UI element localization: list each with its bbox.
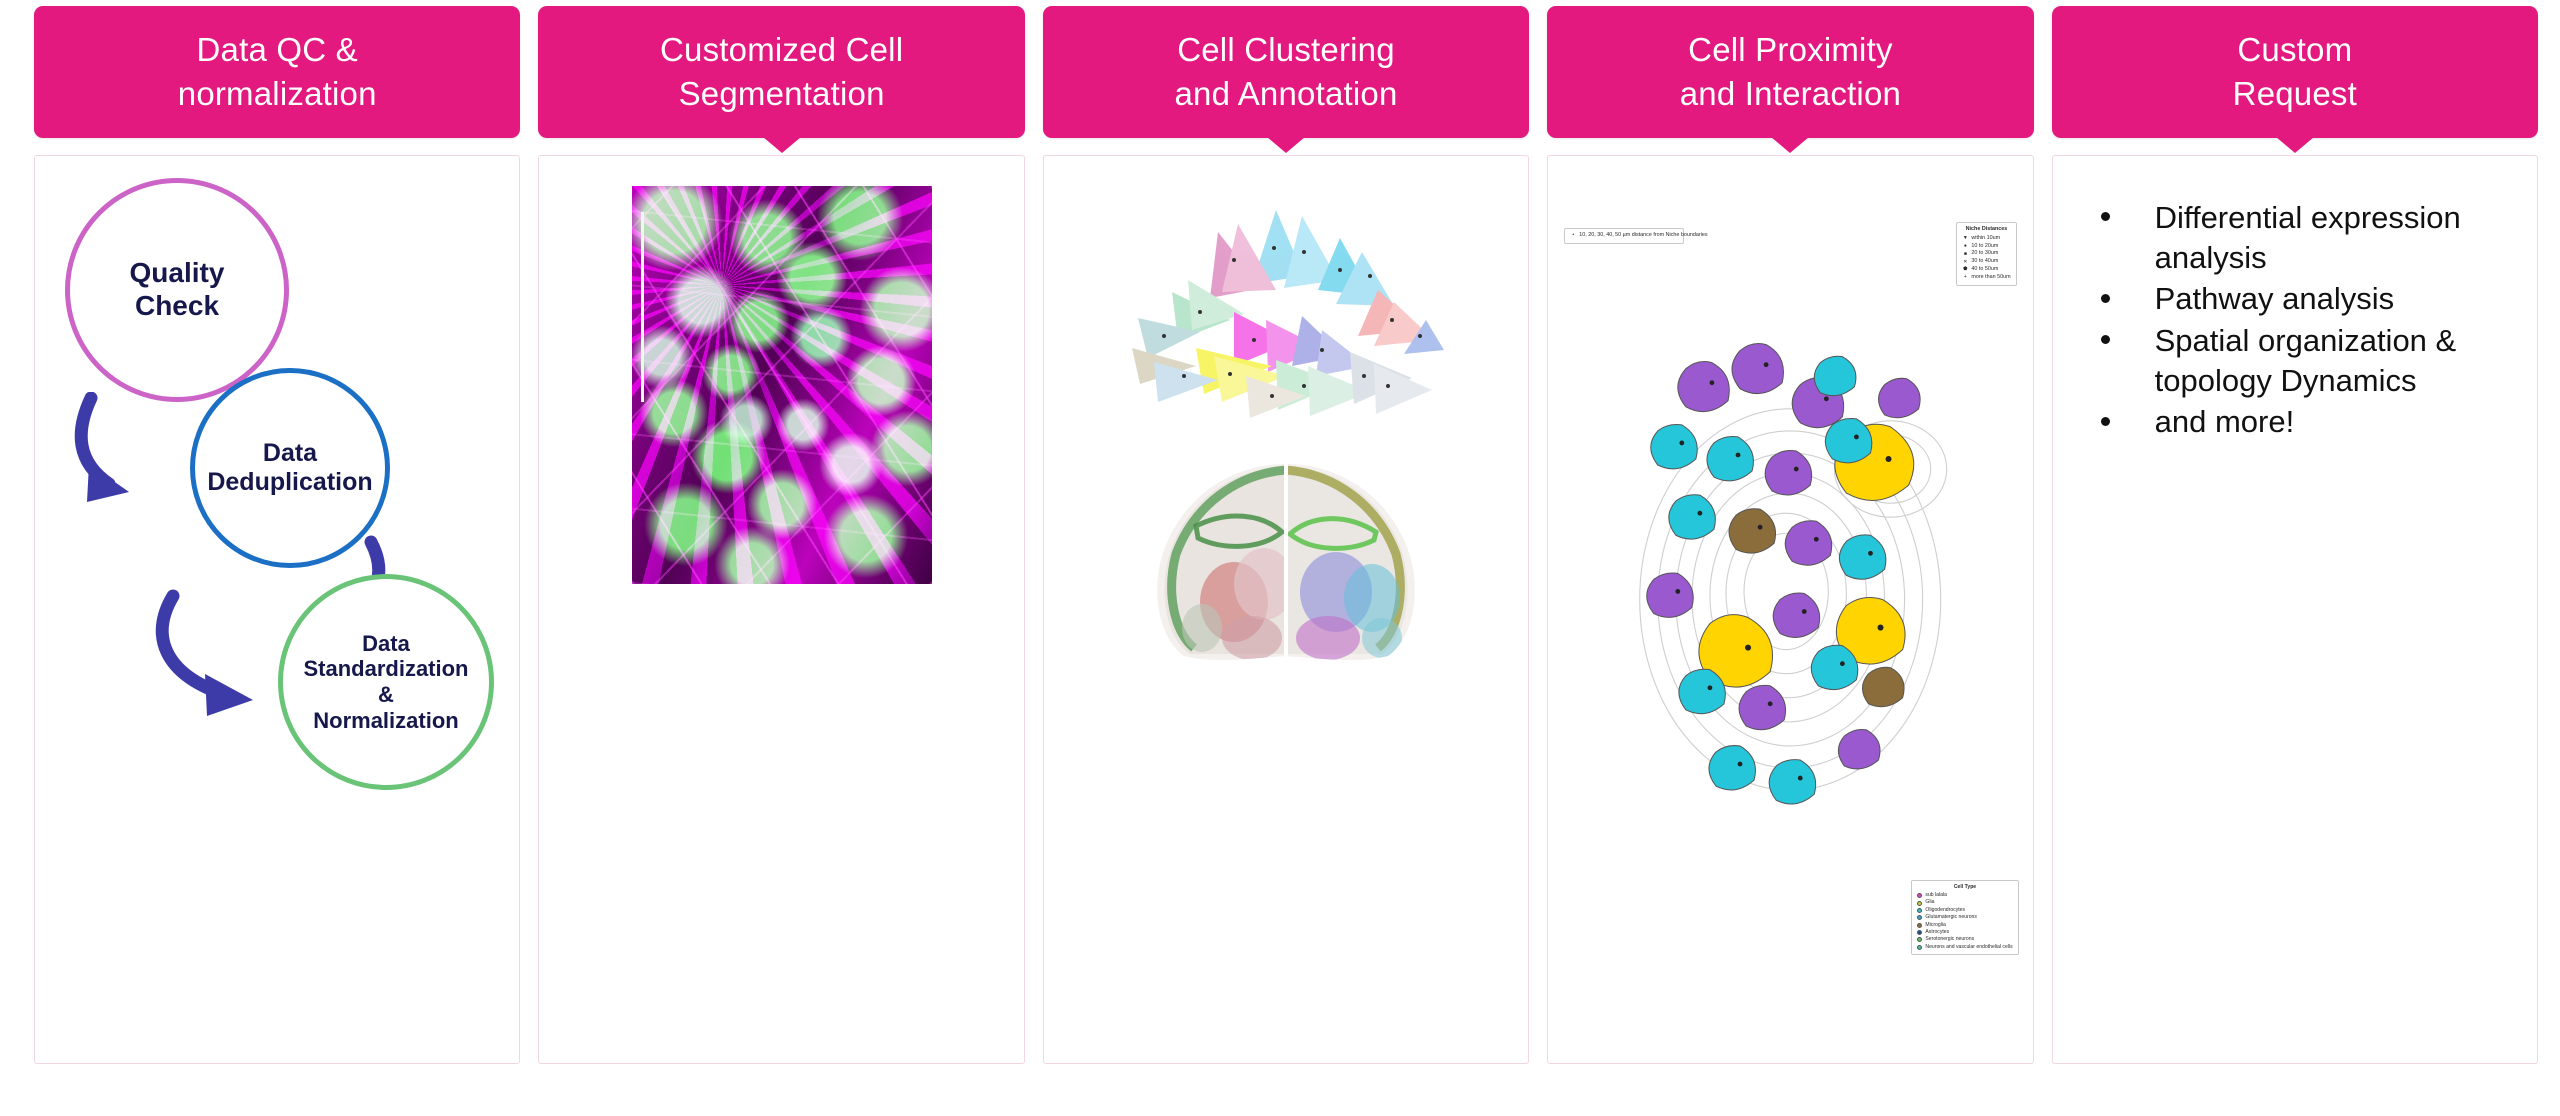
column-data-qc-normalization: Data QC & normalization Quality Check: [34, 6, 520, 1064]
niche-legend-item: +more than 50um: [1962, 274, 2010, 282]
cell-type-label: Glia: [1925, 899, 1934, 906]
cell-type-swatch-icon: [1917, 923, 1922, 928]
column-header-custom-request[interactable]: Custom Request: [2052, 6, 2538, 138]
header-line-1: Data QC &: [178, 28, 377, 72]
flow-node-data-deduplication-label: Data Deduplication: [201, 439, 378, 498]
column-cell-clustering-and-annotation: Cell Clustering and Annotation: [1043, 6, 1529, 1064]
arrow-qc-to-dedup-icon: [53, 392, 183, 512]
niche-legend-label: more than 50um: [1971, 274, 2010, 282]
cell-type-label: sub lalala: [1925, 892, 1947, 899]
column-body-cell-proximity-and-interaction: • 10, 20, 30, 40, 50 µm distance from Ni…: [1547, 155, 2033, 1064]
header-line-2: Request: [2233, 72, 2357, 116]
header-line-1: Cell Proximity: [1680, 28, 1901, 72]
cell-type-label: Glutamatergic neurons: [1925, 914, 1977, 921]
proximity-distance-note-text: 10, 20, 30, 40, 50 µm distance from Nich…: [1579, 232, 1707, 240]
column-header-cell-proximity-and-interaction[interactable]: Cell Proximity and Interaction: [1547, 6, 2033, 138]
proximity-distance-note: • 10, 20, 30, 40, 50 µm distance from Ni…: [1564, 228, 1684, 244]
niche-marker-icon: ▼: [1962, 235, 1968, 242]
header-line-1: Custom: [2233, 28, 2357, 72]
cell-type-label: Serotonergic neurons: [1925, 936, 1974, 943]
cell-type-legend-item: Astrocytes: [1917, 929, 2012, 936]
bullet-dot-icon: [2101, 212, 2110, 221]
custom-request-bullet-list: Differential expression analysis Pathway…: [2093, 198, 2515, 444]
flow-node-data-standardization-normalization[interactable]: Data Standardization & Normalization: [278, 574, 494, 790]
column-header-customized-cell-segmentation[interactable]: Customized Cell Segmentation: [538, 6, 1024, 138]
niche-legend-item: ■20 to 30um: [1962, 250, 2010, 258]
cell-type-legend-item: Microglia: [1917, 922, 2012, 929]
niche-legend-label: 40 to 50um: [1971, 266, 1998, 274]
niche-marker-icon: +: [1962, 274, 1968, 281]
column-body-cell-clustering-and-annotation: [1043, 155, 1529, 1064]
cell-type-swatch-icon: [1917, 930, 1922, 935]
header-line-2: and Interaction: [1680, 72, 1901, 116]
list-item-label: Differential expression analysis: [2155, 200, 2461, 275]
cell-type-label: Microglia: [1925, 922, 1945, 929]
cell-type-legend-item: Neurons and vascular endothelial cells: [1917, 944, 2012, 951]
cell-type-swatch-icon: [1917, 945, 1922, 950]
flow-node-quality-check-label: Quality Check: [124, 257, 231, 323]
niche-legend-label: 30 to 40um: [1971, 258, 1998, 266]
bullet-dot-icon: [2101, 335, 2110, 344]
column-cell-proximity-and-interaction: Cell Proximity and Interaction: [1547, 6, 2033, 1064]
column-body-data-qc-normalization: Quality Check Data Deduplication: [34, 155, 520, 1064]
list-item-label: and more!: [2155, 404, 2295, 439]
cell-type-swatch-icon: [1917, 893, 1922, 898]
column-body-custom-request: Differential expression analysis Pathway…: [2052, 155, 2538, 1064]
umap-cluster-plot: [1126, 180, 1446, 420]
cell-type-label: Astrocytes: [1925, 929, 1949, 936]
cell-type-legend-item: Glia: [1917, 899, 2012, 906]
list-item: Pathway analysis: [2093, 279, 2515, 319]
niche-legend-item: ▼within 10um: [1962, 235, 2010, 243]
bullet-icon: •: [1570, 232, 1576, 239]
cell-type-swatch-icon: [1917, 937, 1922, 942]
column-header-cell-clustering-and-annotation[interactable]: Cell Clustering and Annotation: [1043, 6, 1529, 138]
header-notch-icon: [763, 137, 801, 153]
column-custom-request: Custom Request Differential expression a…: [2052, 6, 2538, 1064]
header-notch-icon: [1771, 137, 1809, 153]
workflow-board: Data QC & normalization Quality Check: [0, 0, 2560, 1116]
fluorescence-cell-segmentation-image: [632, 186, 932, 584]
header-line-2: Segmentation: [660, 72, 903, 116]
qc-flow-diagram: Quality Check Data Deduplication: [35, 156, 519, 1063]
niche-legend-item: ✕30 to 40um: [1962, 258, 2010, 266]
list-item: Spatial organization & topology Dynamics: [2093, 321, 2515, 400]
flow-node-data-standardization-normalization-label: Data Standardization & Normalization: [297, 631, 474, 734]
cell-type-legend-item: Glutamatergic neurons: [1917, 914, 2012, 921]
niche-marker-icon: ●: [1962, 243, 1968, 250]
niche-marker-icon: ■: [1962, 251, 1968, 258]
header-line-1: Customized Cell: [660, 28, 903, 72]
niche-marker-icon: ✕: [1962, 259, 1968, 266]
cell-type-label: Neurons and vascular endothelial cells: [1925, 944, 2012, 951]
list-item-label: Spatial organization & topology Dynamics: [2155, 323, 2457, 398]
cell-type-swatch-icon: [1917, 901, 1922, 906]
list-item: Differential expression analysis: [2093, 198, 2515, 277]
cell-type-legend-item: Serotonergic neurons: [1917, 936, 2012, 943]
header-line-1: Cell Clustering: [1175, 28, 1398, 72]
cell-type-legend: Cell Type sub lalala Glia Oligodendrocyt…: [1911, 880, 2018, 955]
niche-legend-label: 20 to 30um: [1971, 250, 1998, 258]
niche-legend-title: Niche Distances: [1962, 226, 2010, 234]
cell-type-swatch-icon: [1917, 915, 1922, 920]
flow-node-quality-check[interactable]: Quality Check: [65, 178, 289, 402]
cell-type-swatch-icon: [1917, 908, 1922, 913]
cell-type-legend-item: sub lalala: [1917, 892, 2012, 899]
header-notch-icon: [1267, 137, 1305, 153]
bullet-dot-icon: [2101, 294, 2110, 303]
header-line-2: and Annotation: [1175, 72, 1398, 116]
header-notch-icon: [2276, 137, 2314, 153]
list-item: and more!: [2093, 402, 2515, 442]
brain-section-spatial-map: [1136, 452, 1436, 672]
niche-legend-item: ⬟40 to 50um: [1962, 266, 2010, 274]
niche-legend-item: ●10 to 20um: [1962, 243, 2010, 251]
niche-distance-legend: Niche Distances ▼within 10um ●10 to 20um…: [1956, 222, 2016, 286]
cell-type-legend-item: Oligodendrocytes: [1917, 907, 2012, 914]
cell-type-label: Oligodendrocytes: [1925, 907, 1965, 914]
column-header-data-qc-normalization[interactable]: Data QC & normalization: [34, 6, 520, 138]
list-item-label: Pathway analysis: [2155, 281, 2395, 316]
cell-type-legend-title: Cell Type: [1917, 884, 2012, 891]
header-line-2: normalization: [178, 72, 377, 116]
scale-bar: [641, 212, 644, 402]
niche-legend-label: 10 to 20um: [1971, 243, 1998, 251]
column-customized-cell-segmentation: Customized Cell Segmentation: [538, 6, 1024, 1064]
niche-legend-label: within 10um: [1971, 235, 2000, 243]
bullet-dot-icon: [2101, 417, 2110, 426]
cell-proximity-plot: • 10, 20, 30, 40, 50 µm distance from Ni…: [1558, 168, 2022, 1051]
column-body-customized-cell-segmentation: [538, 155, 1024, 1064]
niche-marker-icon: ⬟: [1962, 266, 1968, 273]
